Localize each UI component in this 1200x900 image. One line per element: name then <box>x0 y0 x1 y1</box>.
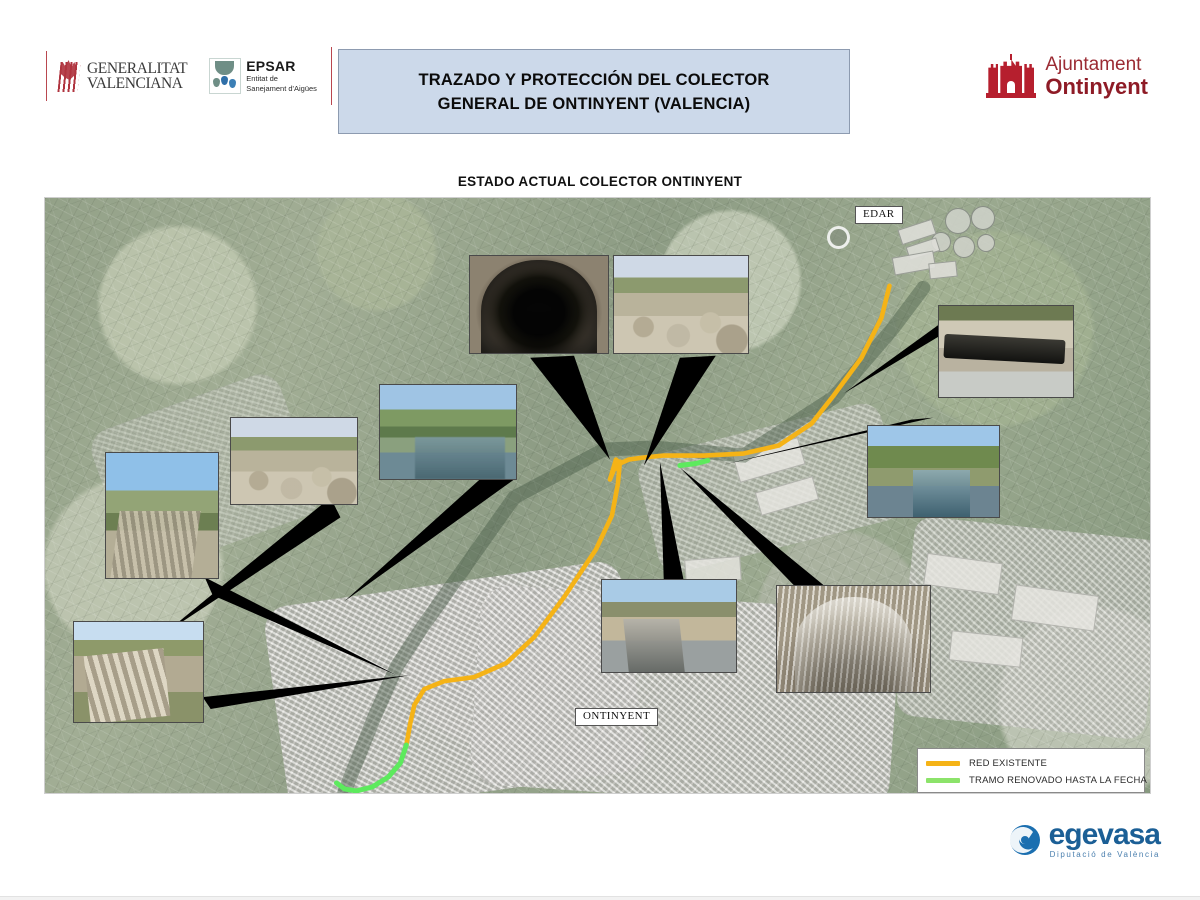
photo-canal-vegetation[interactable] <box>867 425 1000 518</box>
epsar-wordmark: EPSAR Entitat de Sanejament d'Aigües <box>246 59 317 93</box>
poster-page: GENERALITAT VALENCIANA EPSAR Entitat de … <box>0 0 1200 900</box>
epsar-name: EPSAR <box>246 59 317 73</box>
industrial-area-east <box>895 515 1151 740</box>
logo-divider-right <box>331 47 332 105</box>
legend-label-renovated: TRAMO RENOVADO HASTA LA FECHA <box>969 775 1147 786</box>
ajuntament-line-1: Ajuntament <box>1045 54 1148 75</box>
generalitat-line-1: GENERALITAT <box>87 61 187 76</box>
page-bottom-rule <box>0 896 1200 900</box>
poster-header: GENERALITAT VALENCIANA EPSAR Entitat de … <box>0 0 1200 150</box>
ajuntament-wordmark: Ajuntament Ontinyent <box>1045 54 1148 99</box>
map-subtitle: ESTADO ACTUAL COLECTOR ONTINYENT <box>0 174 1200 189</box>
institutional-logos: GENERALITAT VALENCIANA EPSAR Entitat de … <box>46 50 332 102</box>
logo-divider-left <box>46 51 47 101</box>
egevasa-wordmark: egevasa Diputació de València <box>1049 820 1160 859</box>
ajuntament-ontinyent-logo: Ajuntament Ontinyent <box>986 48 1148 104</box>
bat-icon <box>57 59 83 93</box>
map-legend: RED EXISTENTE TRAMO RENOVADO HASTA LA FE… <box>917 748 1145 793</box>
egevasa-logo: egevasa Diputació de València <box>1008 820 1160 859</box>
legend-row-renovated: TRAMO RENOVADO HASTA LA FECHA <box>926 772 1136 789</box>
generalitat-valenciana-logo: GENERALITAT VALENCIANA <box>57 59 187 93</box>
legend-label-existing: RED EXISTENTE <box>969 758 1047 769</box>
ajuntament-line-2: Ontinyent <box>1045 75 1148 99</box>
page-title: TRAZADO Y PROTECCIÓN DEL COLECTOR GENERA… <box>419 68 770 116</box>
roundabout <box>827 226 850 249</box>
photo-rocky-ground[interactable] <box>230 417 358 505</box>
castle-icon <box>986 54 1036 98</box>
swirl-circle-icon <box>1008 823 1042 857</box>
generalitat-line-2: VALENCIANA <box>87 76 187 91</box>
epsar-logo: EPSAR Entitat de Sanejament d'Aigües <box>209 58 317 94</box>
epsar-sub-line-1: Entitat de <box>246 74 317 83</box>
page-title-line-2: GENERAL DE ONTINYENT (VALENCIA) <box>419 92 770 116</box>
legend-swatch-renovated <box>926 778 960 783</box>
generalitat-wordmark: GENERALITAT VALENCIANA <box>87 61 187 91</box>
ontinyent-label: ONTINYENT <box>575 708 658 726</box>
photo-tunnel-interior[interactable] <box>469 255 609 354</box>
water-drop-icon <box>209 58 241 94</box>
photo-stone-wall-channel[interactable] <box>73 621 204 723</box>
legend-swatch-existing <box>926 761 960 766</box>
egevasa-tagline: Diputació de València <box>1049 850 1160 859</box>
edar-treatment-plant <box>887 206 1007 292</box>
photo-ravine-slope[interactable] <box>105 452 219 579</box>
photo-excavation-works[interactable] <box>938 305 1074 398</box>
poster-title-box: TRAZADO Y PROTECCIÓN DEL COLECTOR GENERA… <box>338 49 850 134</box>
epsar-sub-line-2: Sanejament d'Aigües <box>246 84 317 93</box>
legend-row-existing: RED EXISTENTE <box>926 755 1136 772</box>
photo-riverside-path[interactable] <box>601 579 737 673</box>
photo-riverbed-debris[interactable] <box>613 255 749 354</box>
aerial-map[interactable]: EDAR ONTINYENT RED EXISTENTE TRAMO RENOV… <box>44 197 1151 794</box>
photo-tunnel-arch-seepage[interactable] <box>776 585 931 693</box>
edar-label: EDAR <box>855 206 903 224</box>
page-title-line-1: TRAZADO Y PROTECCIÓN DEL COLECTOR <box>419 68 770 92</box>
egevasa-brand: egevasa <box>1049 820 1160 849</box>
photo-river-village[interactable] <box>379 384 517 480</box>
